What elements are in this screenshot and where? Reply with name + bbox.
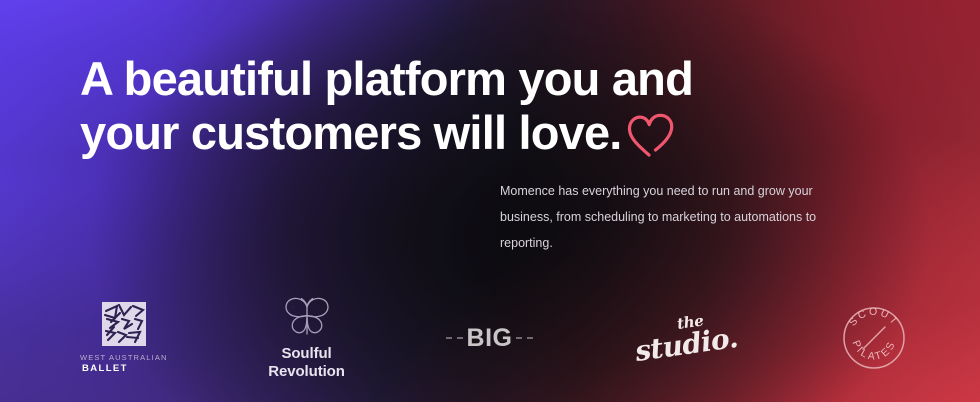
svg-text:PILATES: PILATES — [850, 339, 899, 363]
logo-wab-line-1: WEST AUSTRALIAN — [80, 353, 168, 363]
headline-line-2: your customers will love. — [80, 106, 622, 159]
scribble-square-icon — [102, 302, 146, 346]
client-logo-strip: WEST AUSTRALIAN BALLET — [80, 292, 910, 384]
logo-wab-line-2: BALLET — [82, 363, 128, 375]
circle-badge-icon: SCOUT PILATES — [838, 302, 910, 374]
svg-text:SCOUT: SCOUT — [847, 306, 902, 329]
dashed-rule-icon-right — [516, 337, 533, 339]
logo-sr-line-2: Revolution — [268, 363, 345, 380]
butterfly-icon — [281, 296, 333, 340]
big-wordmark: BIG — [446, 325, 534, 351]
logo-big-text: BIG — [467, 325, 513, 351]
logo-soulful-revolution: Soulful Revolution — [268, 292, 345, 384]
script-wordmark-icon: the studio. — [632, 310, 740, 367]
logo-big: BIG — [446, 292, 534, 384]
heart-outline-icon — [624, 112, 676, 169]
logo-sr-text: Soulful Revolution — [268, 345, 345, 381]
logo-sr-line-1: Soulful — [281, 345, 331, 362]
hero-subcopy: Momence has everything you need to run a… — [500, 178, 830, 256]
page-title: A beautiful platform you and your custom… — [80, 52, 840, 169]
logo-the-studio: the studio. — [634, 292, 737, 384]
dashed-rule-icon-left — [446, 337, 463, 339]
logo-west-australian-ballet: WEST AUSTRALIAN BALLET — [80, 292, 168, 384]
logo-scout-pilates: SCOUT PILATES — [838, 292, 910, 384]
hero-banner: A beautiful platform you and your custom… — [0, 0, 980, 402]
headline-line-2-wrap: your customers will love. — [80, 106, 840, 169]
hero-content: A beautiful platform you and your custom… — [0, 0, 980, 402]
headline-line-1: A beautiful platform you and — [80, 52, 693, 105]
